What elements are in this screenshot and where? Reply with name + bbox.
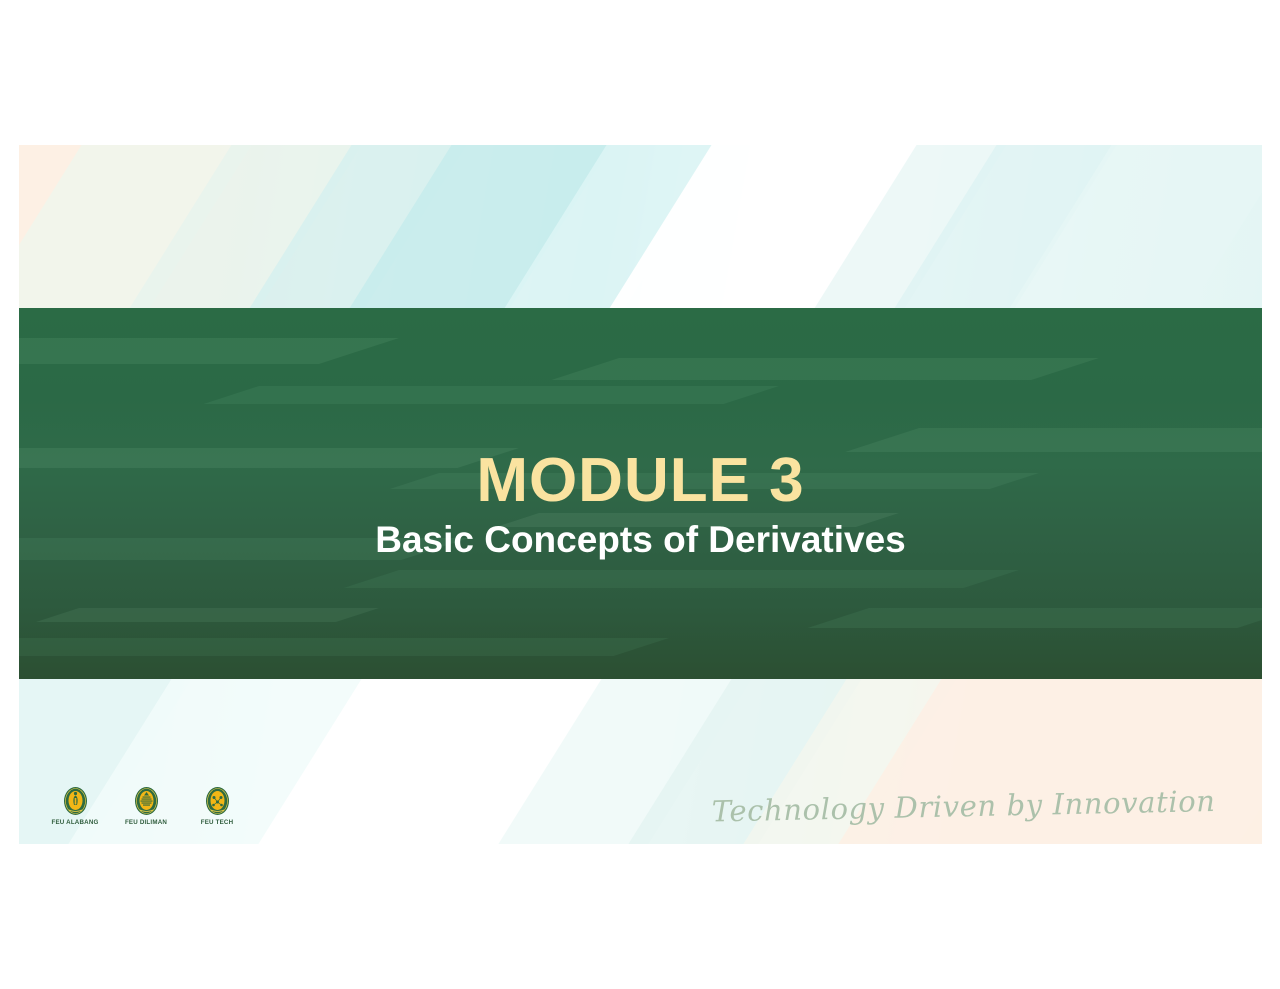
feu-tech-logo: FEU TECH	[190, 786, 244, 826]
feu-alabang-seal-icon	[63, 786, 88, 816]
institution-logo-row: FEU ALABANG FEU DILIMAN	[48, 786, 244, 826]
brush-stroke-icon	[283, 145, 649, 309]
feu-tech-label: FEU TECH	[201, 819, 234, 826]
brush-stroke-icon	[543, 145, 959, 309]
brush-stroke-icon	[193, 679, 659, 844]
feu-tech-seal-icon	[205, 786, 230, 816]
brush-stroke-icon	[438, 145, 764, 309]
module-subtitle: Basic Concepts of Derivatives	[375, 519, 906, 562]
brush-stroke-icon	[748, 145, 1044, 309]
brush-stroke-icon	[63, 145, 399, 309]
feu-diliman-seal-icon	[134, 786, 159, 816]
page-root: MODULE 3 Basic Concepts of Derivatives	[0, 0, 1280, 989]
module-title: MODULE 3	[476, 448, 804, 513]
feu-diliman-label: FEU DILIMAN	[125, 819, 167, 826]
title-block: MODULE 3 Basic Concepts of Derivatives	[19, 308, 1262, 679]
feu-alabang-label: FEU ALABANG	[52, 819, 99, 826]
brush-stroke-icon	[828, 145, 1154, 309]
brush-stroke-icon	[943, 145, 1262, 309]
feu-diliman-logo: FEU DILIMAN	[119, 786, 173, 826]
green-title-band: MODULE 3 Basic Concepts of Derivatives	[19, 308, 1262, 679]
brush-highlight-icon	[713, 145, 933, 309]
feu-alabang-logo: FEU ALABANG	[48, 786, 102, 826]
top-decorative-band	[19, 145, 1262, 309]
title-slide: MODULE 3 Basic Concepts of Derivatives	[19, 145, 1262, 844]
brush-stroke-icon	[19, 145, 289, 309]
brush-stroke-icon	[183, 145, 504, 309]
